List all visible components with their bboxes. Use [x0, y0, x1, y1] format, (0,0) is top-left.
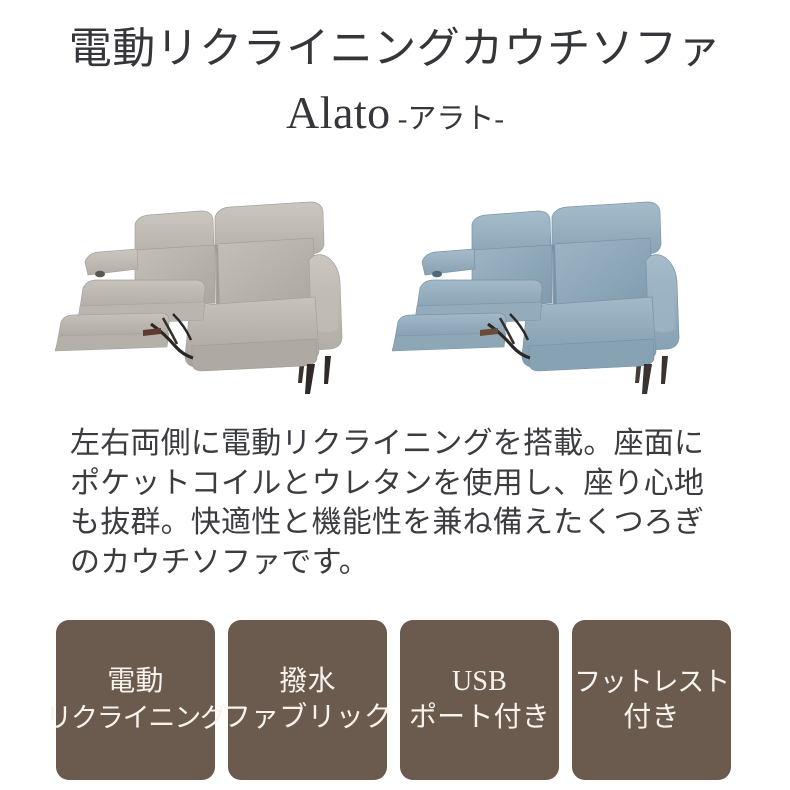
feature-badge-line1: フットレスト — [574, 664, 729, 700]
gray-recliner-couch-sofa-illustration — [55, 196, 395, 408]
feature-badge-line2: 付き — [623, 700, 679, 736]
feature-badge-electric-recliner[interactable]: 電動 リクライニング — [56, 620, 215, 780]
product-name-en: Alato — [286, 87, 391, 139]
page-title: 電動リクライニングカウチソファ — [0, 22, 790, 78]
feature-badge-line2: ファブリック — [223, 700, 392, 736]
product-image-gray — [55, 196, 395, 408]
product-name-row: Alato -アラト- — [0, 87, 790, 145]
product-image-row — [0, 196, 790, 408]
feature-badge-line2: ポート付き — [409, 700, 550, 736]
feature-badge-usb-port[interactable]: USB ポート付き — [400, 620, 559, 780]
product-banner: 電動リクライニングカウチソファ Alato -アラト- — [0, 0, 790, 790]
feature-badge-footrest[interactable]: フットレスト 付き — [572, 620, 731, 780]
product-image-blue — [392, 196, 732, 408]
blue-recliner-couch-sofa-illustration — [392, 196, 732, 408]
feature-badge-line1: USB — [452, 664, 507, 700]
feature-badge-row: 電動 リクライニング 撥水 ファブリック USB ポート付き フットレスト 付き — [56, 620, 731, 780]
product-name-jp: -アラト- — [398, 93, 504, 145]
product-description: 左右両側に電動リクライニングを搭載。座面にポケットコイルとウレタンを使用し、座り… — [70, 424, 730, 582]
feature-badge-line2: リクライニング — [45, 700, 226, 736]
header: 電動リクライニングカウチソファ Alato -アラト- — [0, 22, 790, 145]
feature-badge-water-repellent-fabric[interactable]: 撥水 ファブリック — [228, 620, 387, 780]
feature-badge-line1: 電動 — [107, 664, 163, 700]
feature-badge-line1: 撥水 — [279, 664, 335, 700]
